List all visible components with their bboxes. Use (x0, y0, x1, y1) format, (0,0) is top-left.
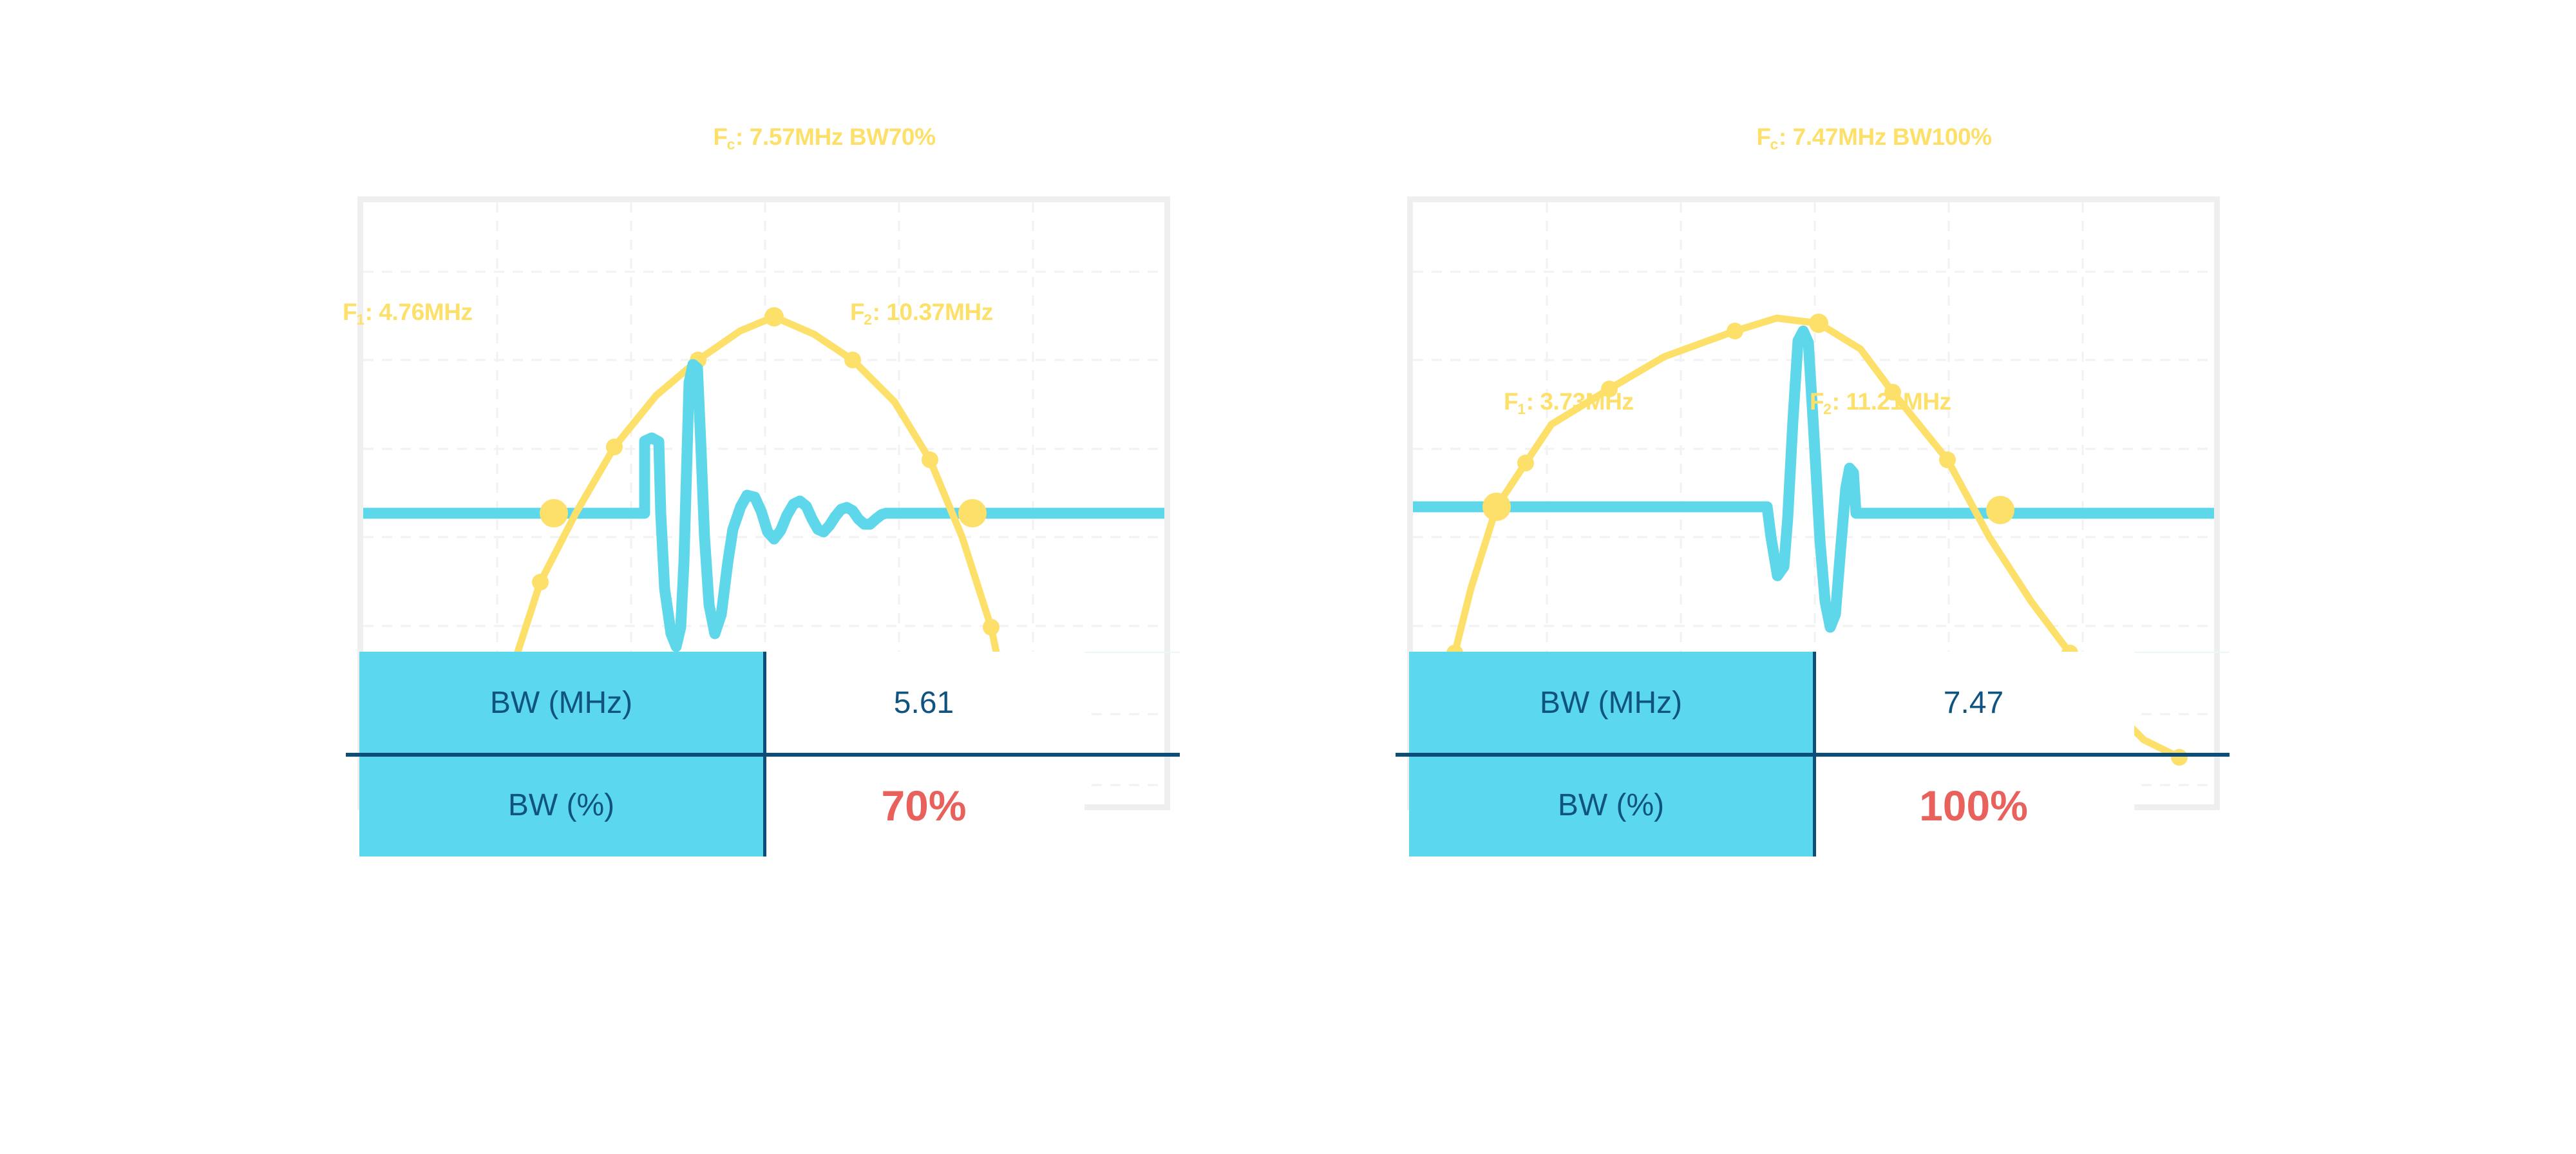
marker-f1 (540, 499, 568, 527)
row-label-bw-mhz: BW (MHz) (1409, 652, 1813, 754)
marker-f1 (1482, 493, 1511, 521)
table-horizontal-divider (346, 753, 1180, 757)
bandwidth-panel-70: Fc: 7.57MHz BW70% F1: 4.76MHz F2: 10.37M… (270, 0, 1378, 1154)
row-value-bw-pct: 70% (763, 754, 1084, 856)
f1-symbol: F (343, 299, 357, 325)
bandwidth-table-100: BW (MHz) 7.47 BW (%) 100% (1409, 652, 2134, 856)
annotation-f2-100: F2: 11.21MHz (1810, 390, 1951, 413)
f2-value: : 10.37MHz (873, 299, 993, 325)
annotation-fc-100: Fc: 7.47MHz BW100% (1756, 125, 1991, 149)
annotation-f1-100: F1: 3.73MHz (1504, 390, 1634, 413)
f2-value: : 11.21MHz (1832, 388, 1951, 415)
table-row: BW (%) 70% (359, 754, 1084, 856)
table-horizontal-divider (1396, 753, 2230, 757)
row-value-bw-mhz: 5.61 (763, 652, 1084, 754)
row-value-bw-mhz: 7.47 (1813, 652, 2134, 754)
annotation-f1-70: F1: 4.76MHz (343, 300, 473, 324)
f2-symbol: F (850, 299, 864, 325)
annotation-fc-70: Fc: 7.57MHz BW70% (713, 125, 935, 149)
bandwidth-table-70: BW (MHz) 5.61 BW (%) 70% (359, 652, 1084, 856)
fc-subscript: c (1770, 136, 1778, 153)
f2-subscript: 2 (864, 311, 871, 328)
row-value-bw-pct: 100% (1813, 754, 2134, 856)
fc-value: : 7.57MHz BW70% (735, 124, 936, 150)
f1-symbol: F (1504, 388, 1518, 415)
fc-symbol: F (1756, 124, 1770, 150)
pulse-echo-waveform (1767, 331, 1856, 627)
marker-f2 (958, 499, 987, 527)
f2-subscript: 2 (1823, 401, 1831, 417)
table-row: BW (MHz) 5.61 (359, 652, 1084, 754)
fc-value: : 7.47MHz BW100% (1779, 124, 1992, 150)
f1-subscript: 1 (356, 311, 364, 328)
f1-value: : 3.73MHz (1526, 388, 1634, 415)
row-label-bw-mhz: BW (MHz) (359, 652, 763, 754)
row-label-bw-pct: BW (%) (1409, 754, 1813, 856)
bandwidth-panel-100: Fc: 7.47MHz BW100% F1: 3.73MHz F2: 11.21… (1320, 0, 2428, 1154)
fc-subscript: c (727, 136, 735, 153)
fc-symbol: F (713, 124, 727, 150)
annotation-f2-70: F2: 10.37MHz (850, 300, 993, 324)
row-label-bw-pct: BW (%) (359, 754, 763, 856)
marker-f2 (1986, 496, 2014, 524)
table-row: BW (MHz) 7.47 (1409, 652, 2134, 754)
f1-subscript: 1 (1517, 401, 1525, 417)
f1-value: : 4.76MHz (365, 299, 473, 325)
f2-symbol: F (1810, 388, 1824, 415)
table-row: BW (%) 100% (1409, 754, 2134, 856)
